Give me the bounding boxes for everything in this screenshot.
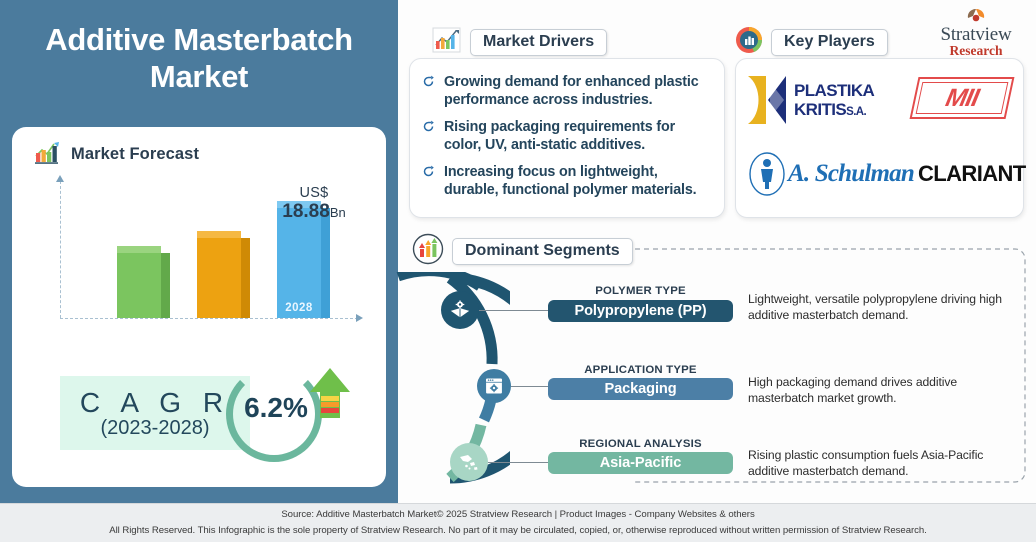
driver-item: Increasing focus on lightweight, durable… — [422, 163, 711, 199]
segment-caption-application-type: APPLICATION TYPE — [548, 364, 733, 376]
driver-item: Growing demand for enhanced plastic perf… — [422, 73, 711, 109]
logo-text-suffix: S.A. — [846, 106, 866, 118]
infographic-root: Additive Masterbatch Market Market Forec… — [0, 0, 1036, 542]
brand-mark-icon — [926, 8, 1026, 24]
market-forecast-header: Market Forecast — [34, 139, 199, 170]
segment-caption-polymer-type: POLYMER TYPE — [548, 285, 733, 297]
footer: Source: Additive Masterbatch Market© 202… — [0, 503, 1036, 542]
segment-icon-polymer-type — [441, 291, 479, 329]
up-arrow-icon — [308, 366, 352, 440]
growth-chart-icon — [432, 26, 462, 59]
bars-up-icon — [412, 233, 444, 270]
globe-map-icon — [457, 450, 481, 474]
logo-plastika-kritis: PLASTIKA KRITISS.A. — [746, 69, 896, 131]
dominant-segments-label: Dominant Segments — [452, 238, 633, 265]
plastika-kritis-mark-icon — [746, 72, 790, 128]
forecast-value-label: US$ 18.88Bn — [254, 185, 374, 223]
arrow-loop-icon — [422, 120, 435, 154]
chart-x-axis — [60, 318, 358, 319]
bar-top — [117, 246, 161, 253]
dominant-segments-header: Dominant Segments — [412, 233, 633, 270]
chart-x-axis-arrow — [356, 314, 363, 322]
cagr-block: C A G R (2023-2028) 6.2% — [32, 360, 372, 465]
brand-logo: Stratview Research Strategic Insights De… — [926, 8, 1026, 65]
segment-description-regional-analysis: Rising plastic consumption fuels Asia-Pa… — [748, 448, 1016, 480]
logo-text-line1: PLASTIKA — [794, 82, 874, 99]
bar-2023 — [197, 231, 241, 318]
chart-y-axis — [60, 181, 61, 318]
schulman-person-icon — [748, 151, 786, 197]
arrow-loop-icon — [422, 75, 435, 109]
bar-top — [197, 231, 241, 238]
bar-2022 — [117, 246, 161, 318]
logo-a-schulman: A. Schulman — [748, 147, 918, 201]
cagr-box: C A G R (2023-2028) — [60, 376, 250, 450]
driver-text: Increasing focus on lightweight, durable… — [444, 163, 711, 199]
footer-source: Source: Additive Masterbatch Market© 202… — [0, 509, 1036, 520]
cagr-period: (2023-2028) — [101, 417, 210, 440]
forecast-unit: Bn — [330, 205, 346, 220]
arrow-loop-icon — [422, 165, 435, 199]
bar-face — [117, 246, 161, 318]
bar-chart-icon — [34, 139, 62, 170]
key-players-header: Key Players — [735, 26, 888, 59]
segment-connector-1 — [479, 310, 550, 311]
bar-year-label: 2028 — [277, 302, 321, 314]
pie-chart-icon — [735, 26, 763, 59]
segment-icon-application-type — [477, 369, 511, 403]
bar-side — [161, 253, 170, 318]
segment-description-polymer-type: Lightweight, versatile polypropylene dri… — [748, 292, 1010, 324]
segment-value-application-type: Packaging — [548, 378, 733, 400]
left-panel: Additive Masterbatch Market Market Forec… — [0, 0, 398, 503]
segment-value-polymer-type: Polypropylene (PP) — [548, 300, 733, 322]
market-forecast-card: Market Forecast — [12, 127, 386, 487]
logo-text-line2: KRITIS — [794, 100, 846, 119]
driver-text: Growing demand for enhanced plastic perf… — [444, 73, 711, 109]
segment-value-regional-analysis: Asia-Pacific — [548, 452, 733, 474]
open-box-gear-icon — [449, 299, 471, 321]
logo-text: A. Schulman — [788, 160, 914, 188]
forecast-bar-chart: 2028 US$ 18.88Bn — [42, 177, 362, 337]
logo-clariant: CLARIANT — [918, 151, 1018, 197]
bar-side — [241, 238, 250, 318]
segment-description-application-type: High packaging demand drives additive ma… — [748, 375, 1010, 407]
forecast-value: 18.88 — [282, 201, 330, 222]
key-players-card: PLASTIKA KRITISS.A. MII A. Schulman — [735, 58, 1024, 218]
bar-face — [197, 231, 241, 318]
forecast-currency: US$ — [254, 185, 374, 201]
logo-mii: MII — [914, 75, 1012, 121]
cagr-word: C A G R — [80, 387, 230, 419]
key-players-label: Key Players — [771, 29, 888, 56]
logo-text: MII — [912, 79, 1012, 117]
market-drivers-label: Market Drivers — [470, 29, 607, 56]
logo-text: CLARIANT — [918, 161, 1026, 187]
driver-item: Rising packaging requirements for color,… — [422, 118, 711, 154]
segment-caption-regional-analysis: REGIONAL ANALYSIS — [548, 438, 733, 450]
market-drivers-header: Market Drivers — [432, 26, 607, 59]
market-forecast-label: Market Forecast — [71, 145, 199, 164]
page-title: Additive Masterbatch Market — [8, 22, 390, 95]
segment-connector-3 — [488, 462, 550, 463]
footer-rights: All Rights Reserved. This Infographic is… — [0, 525, 1036, 536]
market-drivers-card: Growing demand for enhanced plastic perf… — [409, 58, 725, 218]
segment-connector-2 — [511, 386, 550, 387]
bar-side — [321, 208, 330, 318]
window-gear-icon — [484, 376, 504, 396]
chart-y-axis-arrow — [56, 175, 64, 182]
driver-text: Rising packaging requirements for color,… — [444, 118, 711, 154]
segment-icon-regional-analysis — [450, 443, 488, 481]
